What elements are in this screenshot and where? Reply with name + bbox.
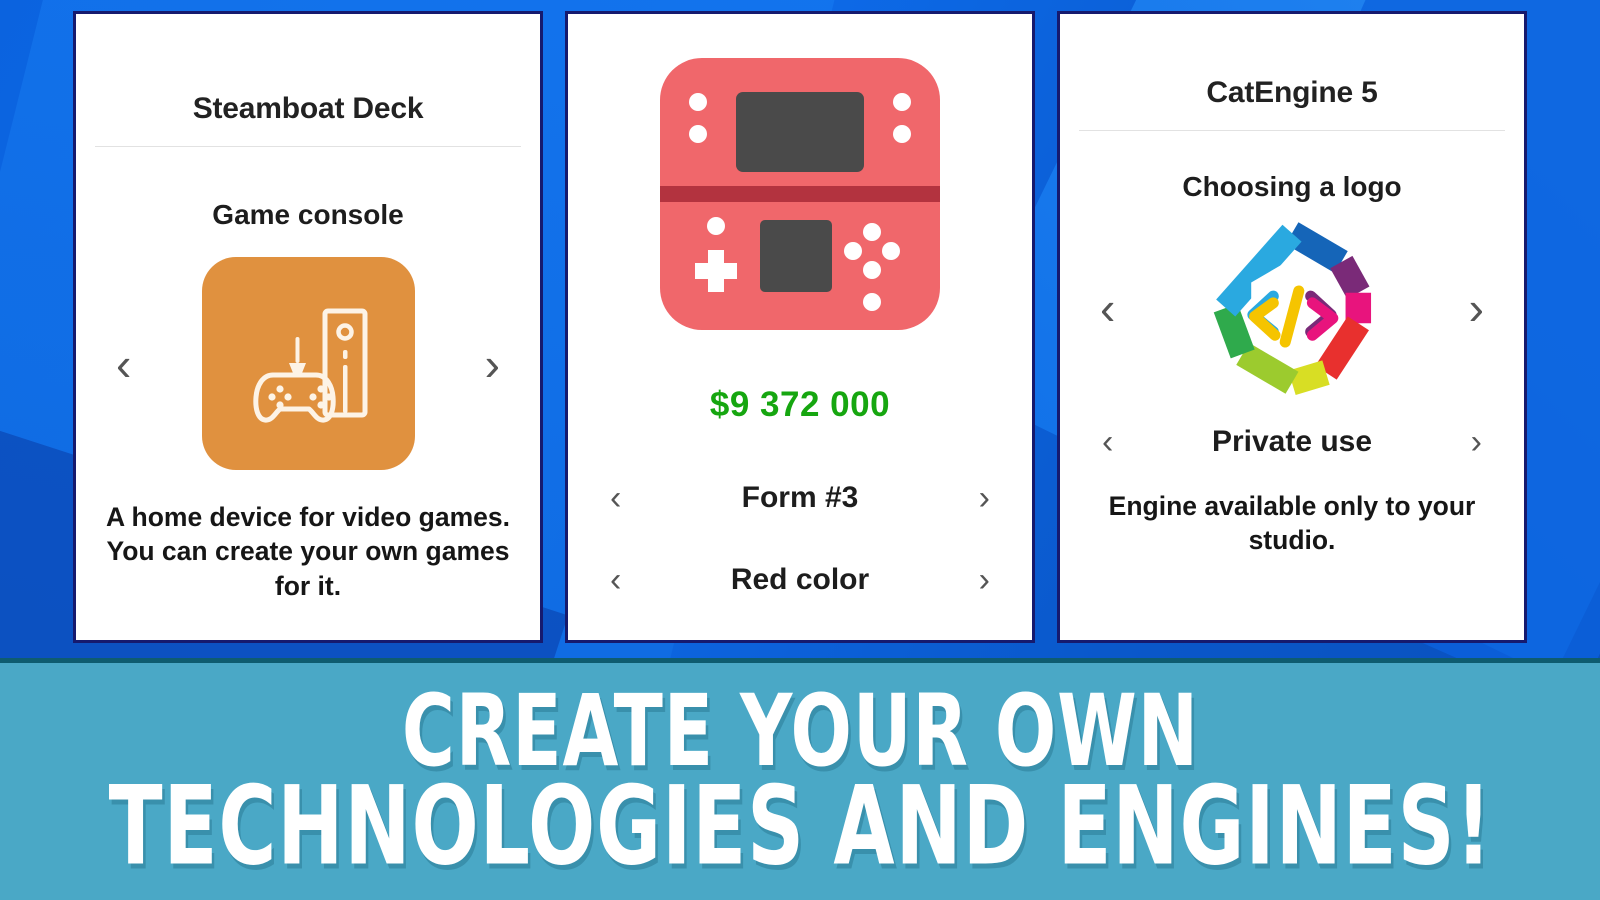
- logo-selector: ‹: [1060, 213, 1524, 403]
- color-selector: ‹ Red color ›: [568, 563, 1032, 597]
- license-selector: ‹ Private use ›: [1060, 425, 1524, 459]
- device-price: $9 372 000: [710, 385, 890, 425]
- code-hexagon-logo: [1207, 213, 1377, 403]
- next-license-button[interactable]: ›: [1471, 425, 1482, 459]
- game-console-icon: [202, 257, 415, 470]
- prev-console-button[interactable]: ‹: [116, 341, 131, 387]
- card-divider: [1079, 130, 1506, 131]
- form-value: Form #3: [621, 481, 978, 515]
- promo-banner: CREATE YOUR OWN TECHNOLOGIES AND ENGINES…: [0, 658, 1600, 900]
- banner-line-2: TECHNOLOGIES AND ENGINES!: [108, 772, 1492, 883]
- gamepad-tower-glyph: [233, 289, 383, 439]
- card-title: Steamboat Deck: [193, 92, 424, 126]
- prev-logo-button[interactable]: ‹: [1100, 285, 1115, 331]
- next-form-button[interactable]: ›: [979, 481, 990, 515]
- card-steamboat-deck[interactable]: Steamboat Deck Game console ‹: [73, 11, 543, 643]
- prev-form-button[interactable]: ‹: [610, 481, 621, 515]
- card-row: Steamboat Deck Game console ‹: [0, 0, 1600, 660]
- prev-license-button[interactable]: ‹: [1102, 425, 1113, 459]
- color-value: Red color: [621, 563, 978, 597]
- next-color-button[interactable]: ›: [979, 563, 990, 597]
- card-subtitle: Choosing a logo: [1182, 171, 1401, 203]
- card-device-preview[interactable]: $9 372 000 ‹ Form #3 › ‹ Red color ›: [565, 11, 1035, 643]
- prev-color-button[interactable]: ‹: [610, 563, 621, 597]
- next-console-button[interactable]: ›: [485, 341, 500, 387]
- card-description: Engine available only to your studio.: [1060, 489, 1524, 558]
- handheld-device-glyph: [650, 44, 950, 344]
- console-icon-selector: ‹: [76, 257, 540, 470]
- next-logo-button[interactable]: ›: [1469, 285, 1484, 331]
- card-description: A home device for video games. You can c…: [76, 500, 540, 603]
- form-selector: ‹ Form #3 ›: [568, 481, 1032, 515]
- handheld-console-icon: [650, 44, 950, 349]
- card-subtitle: Game console: [212, 199, 403, 231]
- card-catengine[interactable]: CatEngine 5 Choosing a logo ‹: [1057, 11, 1527, 643]
- license-value: Private use: [1113, 425, 1470, 459]
- card-title: CatEngine 5: [1206, 76, 1377, 110]
- card-divider: [95, 146, 522, 147]
